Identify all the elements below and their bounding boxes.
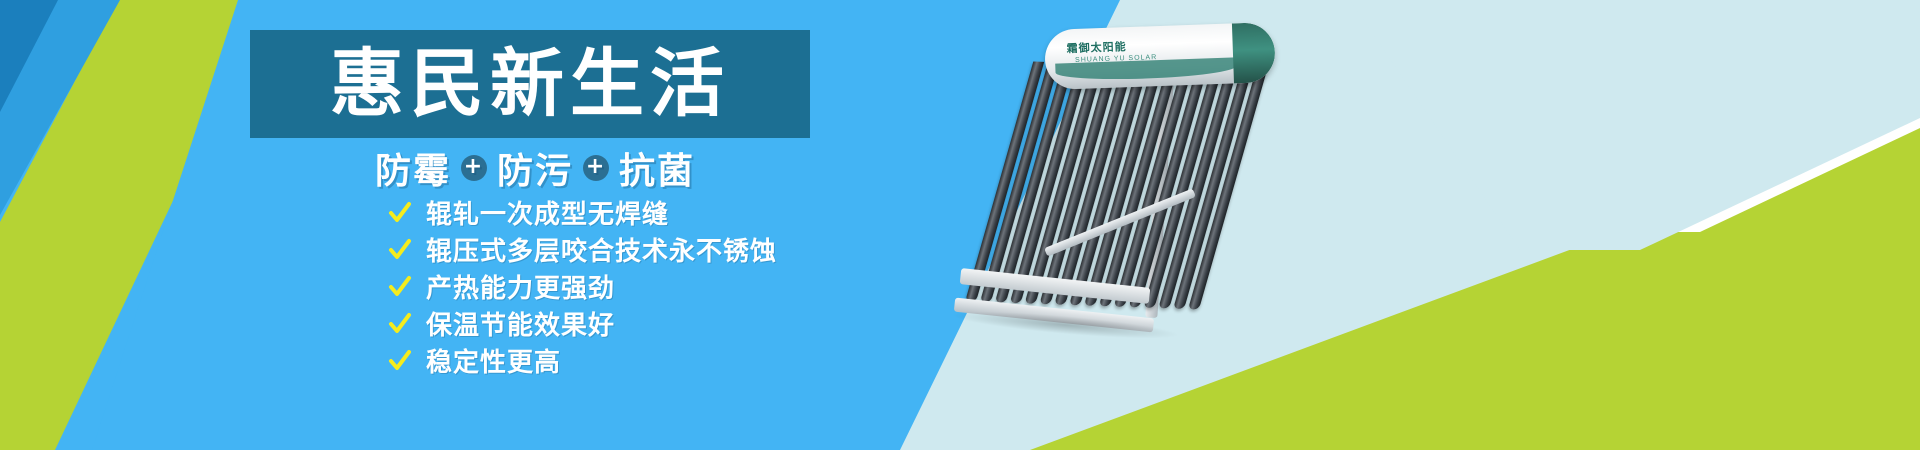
banner-content: 惠民新生活 防霉 + 防污 + 抗菌 辊轧一次成型无焊缝 辊压式多层咬合技术永不…	[250, 0, 870, 450]
check-icon	[388, 238, 412, 262]
list-item: 辊压式多层咬合技术永不锈蚀	[388, 233, 777, 266]
check-icon	[388, 201, 412, 225]
list-item: 保温节能效果好	[388, 307, 777, 340]
tank-brand-label: 霜御太阳能	[1066, 38, 1127, 56]
feature-label: 稳定性更高	[426, 342, 561, 379]
check-icon	[388, 275, 412, 299]
plus-icon: +	[461, 155, 487, 181]
list-item: 产热能力更强劲	[388, 270, 777, 303]
feature-list: 辊轧一次成型无焊缝 辊压式多层咬合技术永不锈蚀 产热能力更强劲 保温节能效果好	[388, 196, 777, 381]
title-box: 惠民新生活	[250, 30, 810, 138]
banner-subtitle: 防霉 + 防污 + 抗菌	[375, 142, 695, 194]
subtitle-part-3: 抗菌	[619, 142, 695, 194]
solar-water-heater-image: 霜御太阳能 SHUANG YU SOLAR	[940, 8, 1280, 368]
promo-banner: 霜御太阳能 SHUANG YU SOLAR 惠民新生活 防霉 + 防污 + 抗菌…	[0, 0, 1920, 450]
water-tank: 霜御太阳能 SHUANG YU SOLAR	[1044, 22, 1276, 90]
list-item: 稳定性更高	[388, 344, 777, 377]
list-item: 辊轧一次成型无焊缝	[388, 196, 777, 229]
banner-title: 惠民新生活	[330, 47, 730, 121]
subtitle-part-1: 防霉	[375, 142, 451, 194]
feature-label: 辊压式多层咬合技术永不锈蚀	[426, 231, 777, 268]
plus-icon: +	[583, 155, 609, 181]
check-icon	[388, 349, 412, 373]
check-icon	[388, 312, 412, 336]
feature-label: 辊轧一次成型无焊缝	[426, 194, 669, 231]
feature-label: 产热能力更强劲	[426, 268, 615, 305]
feature-label: 保温节能效果好	[426, 305, 615, 342]
subtitle-part-2: 防污	[497, 142, 573, 194]
